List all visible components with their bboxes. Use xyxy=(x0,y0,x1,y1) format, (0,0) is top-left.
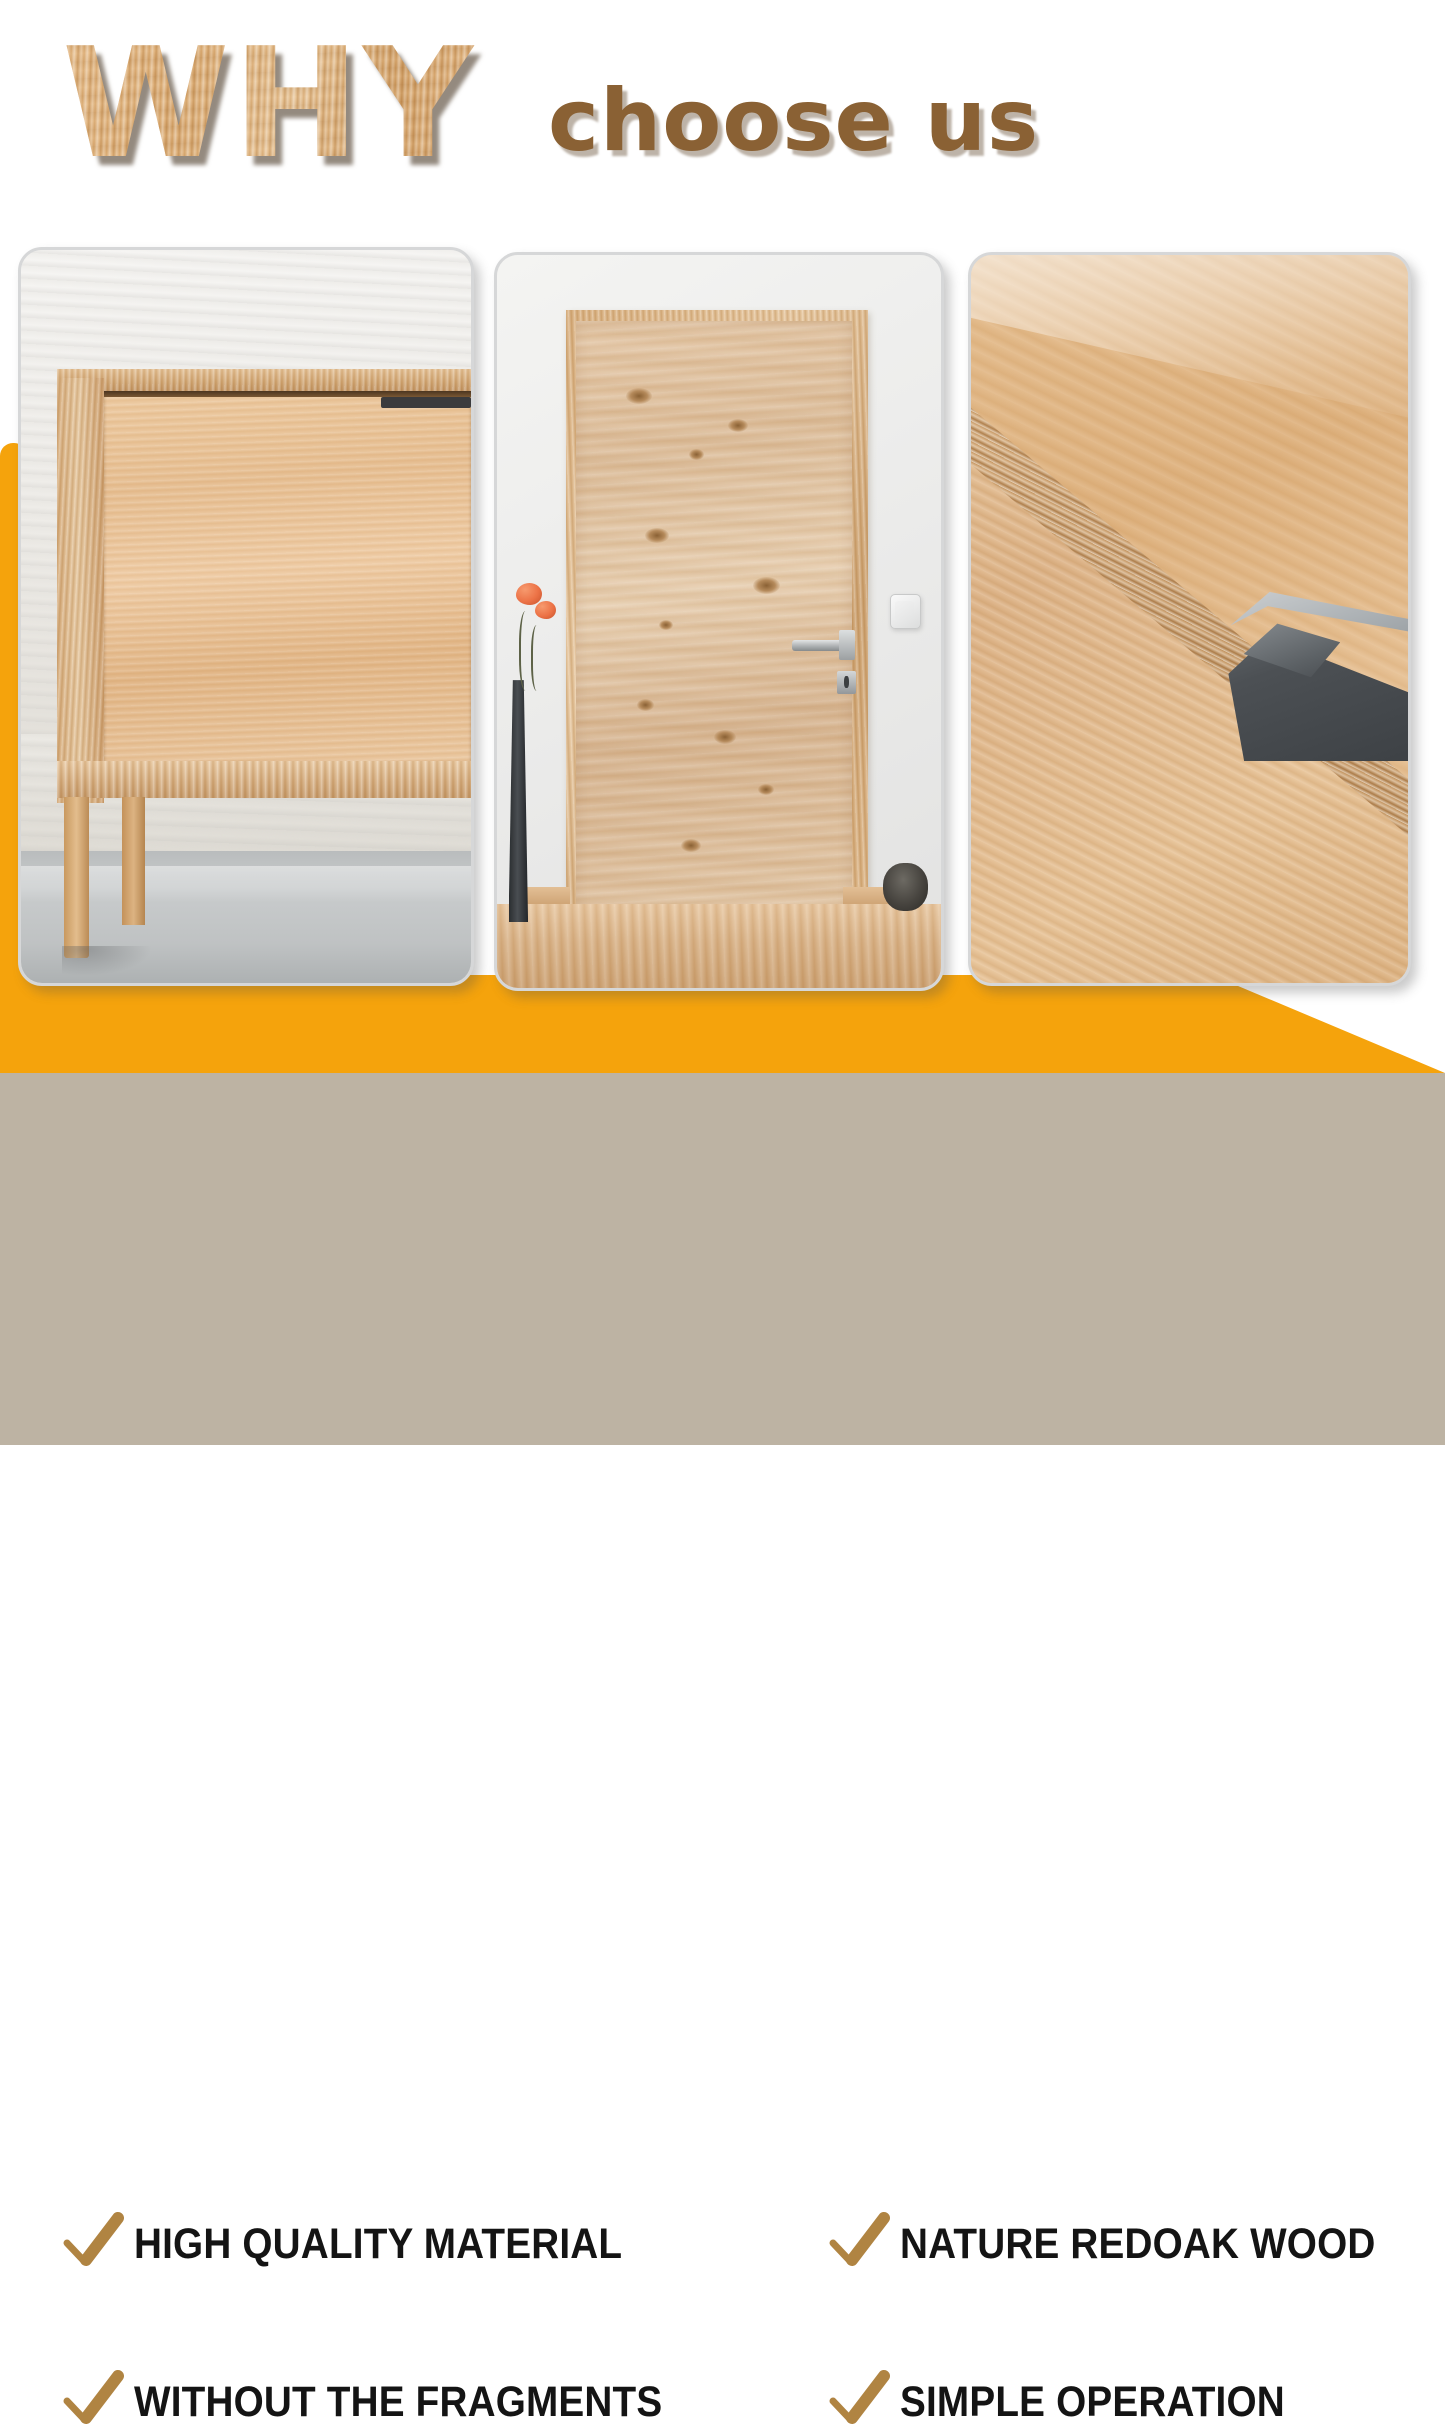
check-icon xyxy=(828,2368,890,2430)
wood-knot-icon xyxy=(714,730,736,744)
wood-knot-icon xyxy=(681,839,701,852)
feature-label: NATURE REDOAK WOOD xyxy=(900,2220,1376,2269)
wood-knot-icon xyxy=(728,419,748,432)
cabinet-leg-back xyxy=(122,797,145,925)
oak-door-leaf xyxy=(576,321,852,931)
feature-item: HIGH QUALITY MATERIAL xyxy=(62,2213,676,2275)
light-switch-rocker xyxy=(895,601,915,620)
feature-label: WITHOUT THE FRAGMENTS xyxy=(134,2378,662,2427)
features-band: HIGH QUALITY MATERIAL NATURE REDOAK WOOD… xyxy=(0,1073,1445,1445)
feature-item: NATURE REDOAK WOOD xyxy=(828,2213,1428,2275)
cabinet-top xyxy=(57,369,471,391)
leg-floor-shadow xyxy=(62,946,152,975)
feature-label: HIGH QUALITY MATERIAL xyxy=(134,2220,622,2269)
photo-panel-sideboard[interactable] xyxy=(18,247,474,986)
check-icon xyxy=(828,2210,890,2272)
wood-knot-icon xyxy=(689,449,704,460)
wood-knot-icon xyxy=(626,388,652,404)
feature-label: SIMPLE OPERATION xyxy=(900,2378,1285,2427)
wood-knot-icon xyxy=(758,784,774,795)
wood-knot-icon xyxy=(753,577,780,594)
feature-item: WITHOUT THE FRAGMENTS xyxy=(62,2371,721,2433)
feature-item: SIMPLE OPERATION xyxy=(828,2371,1328,2433)
cabinet-bar-handle xyxy=(381,397,471,408)
poppy-flower xyxy=(535,601,556,619)
check-icon xyxy=(62,2210,124,2272)
wood-knot-icon xyxy=(645,528,669,543)
door-keyhole-icon xyxy=(844,676,848,688)
cabinet-leg-front xyxy=(64,797,89,958)
cabinet-bottom-rail xyxy=(57,761,471,798)
cabinet-side-stile xyxy=(57,378,104,803)
wood-stump-stool xyxy=(883,863,927,911)
photo-panel-interior-door[interactable] xyxy=(494,252,944,991)
cabinet-door xyxy=(104,391,471,761)
check-icon xyxy=(62,2368,124,2430)
why-choose-us-infographic: WHY choose us xyxy=(0,0,1445,1445)
flower-stem xyxy=(531,625,545,691)
wood-knot-icon xyxy=(637,699,654,711)
wood-floor xyxy=(497,904,941,988)
door-handle-rosette xyxy=(839,630,855,661)
photo-gallery xyxy=(0,0,1445,1000)
photo-panel-edge-banding-closeup[interactable] xyxy=(968,252,1411,986)
poppy-flower xyxy=(516,583,542,605)
wood-knot-icon xyxy=(659,620,673,630)
